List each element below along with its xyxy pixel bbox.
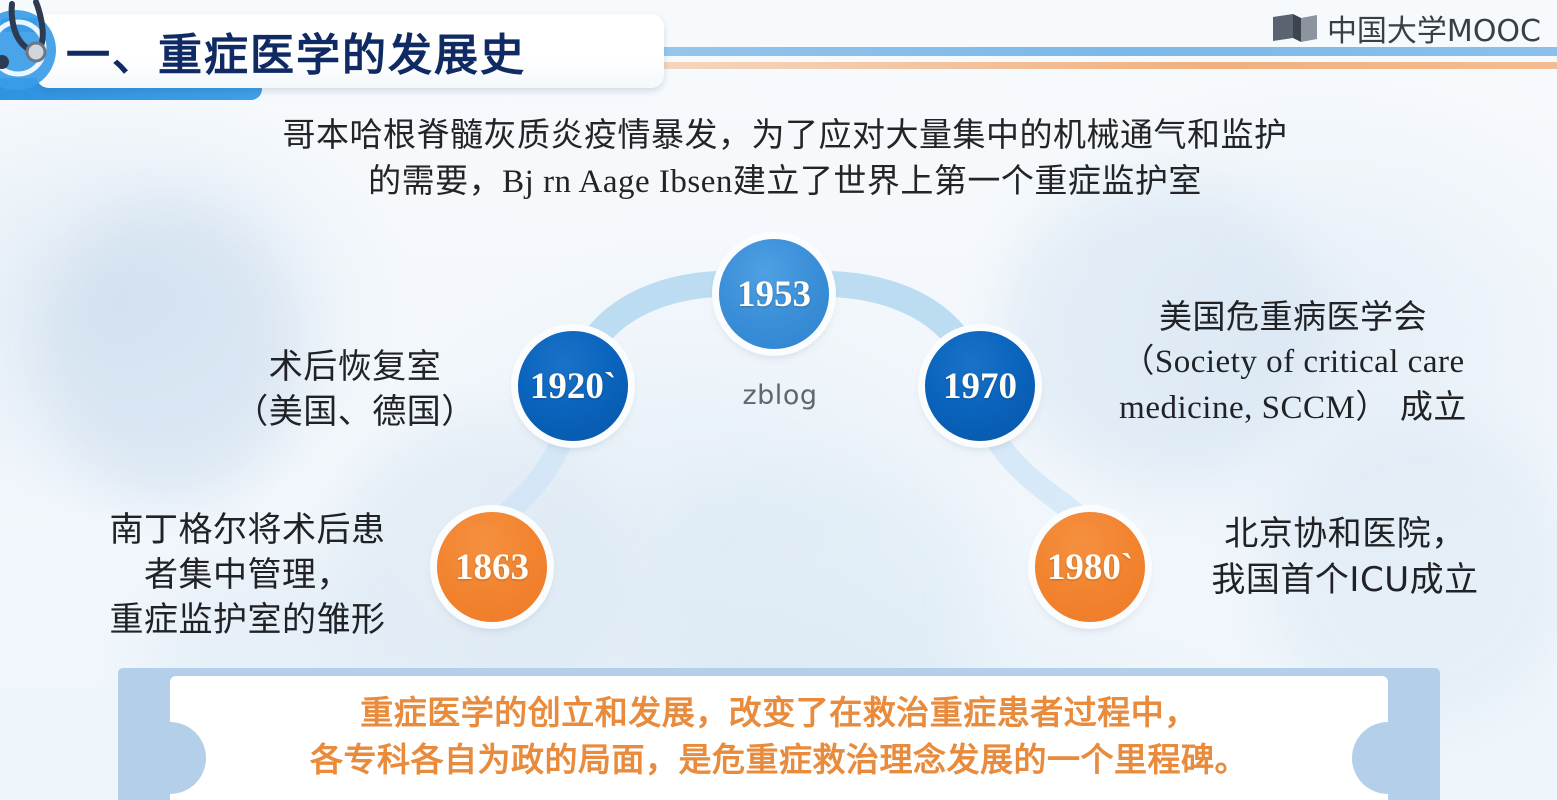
node-1863[interactable]: 1863 <box>437 512 547 622</box>
label-sccm-line-3: medicine, SCCM） 成立 <box>1058 385 1528 431</box>
section-title-label: 重症医学的发展史 <box>158 19 526 83</box>
label-postop-line-2: （美国、德国） <box>205 390 505 435</box>
brand-logo: 中国大学MOOC <box>1271 8 1541 48</box>
label-nightingale-line-1: 南丁格尔将术后患 <box>60 508 435 553</box>
intro-line-1: 哥本哈根脊髓灰质炎疫情暴发，为了应对大量集中的机械通气和监护 <box>150 112 1420 158</box>
label-nightingale-line-2: 者集中管理， <box>60 553 435 598</box>
page-title: 一、重症医学的发展史 <box>66 18 656 84</box>
node-1920[interactable]: 1920` <box>518 331 628 441</box>
label-sccm-line-3-english: medicine, SCCM） <box>1119 390 1389 426</box>
node-1863-year: 1863 <box>455 546 529 589</box>
brand-name: 中国大学MOOC <box>1327 6 1541 50</box>
intro-paragraph: 哥本哈根脊髓灰质炎疫情暴发，为了应对大量集中的机械通气和监护 的需要，Bj rn… <box>150 112 1420 205</box>
label-sccm-line-3-chinese: 成立 <box>1400 387 1467 426</box>
node-1920-year: 1920` <box>530 365 616 408</box>
node-1970-year: 1970 <box>943 365 1017 408</box>
label-pumch: 北京协和医院， 我国首个ICU成立 <box>1160 512 1530 604</box>
stethoscope-icon <box>0 0 104 108</box>
label-pumch-line-1: 北京协和医院， <box>1160 512 1530 558</box>
intro-line-2-prefix: 的需要， <box>368 161 502 200</box>
slide-canvas: 一、重症医学的发展史 中国大学MOOC 哥本哈根脊髓灰质炎疫情暴发，为了应对大量… <box>0 0 1557 800</box>
label-sccm-line-2: （Society of critical care <box>1058 340 1528 385</box>
label-sccm-line-1: 美国危重病医学会 <box>1058 295 1528 340</box>
intro-line-2: 的需要，Bj rn Aage Ibsen建立了世界上第一个重症监护室 <box>150 158 1420 206</box>
label-postop-line-1: 术后恢复室 <box>205 345 505 390</box>
label-nightingale-line-3: 重症监护室的雏形 <box>60 598 435 643</box>
node-1953-year: 1953 <box>737 273 811 316</box>
intro-person-name: Bj rn Aage Ibsen <box>502 164 733 200</box>
node-1970[interactable]: 1970 <box>925 331 1035 441</box>
open-book-icon <box>1271 12 1319 44</box>
summary-line-2: 各专科各自为政的局面，是危重症救治理念发展的一个里程碑。 <box>200 737 1358 784</box>
label-pumch-line-2: 我国首个ICU成立 <box>1160 558 1530 604</box>
intro-line-2-suffix: 建立了世界上第一个重症监护室 <box>733 161 1202 200</box>
node-1953[interactable]: 1953 <box>719 239 829 349</box>
summary-ribbon-text: 重症医学的创立和发展，改变了在救治重症患者过程中， 各专科各自为政的局面，是危重… <box>200 690 1358 784</box>
node-1980-year: 1980` <box>1047 546 1133 589</box>
watermark: zblog <box>700 380 860 411</box>
label-postop-recovery-room: 术后恢复室 （美国、德国） <box>205 345 505 435</box>
label-sccm: 美国危重病医学会 （Society of critical care medic… <box>1058 295 1528 431</box>
label-nightingale: 南丁格尔将术后患 者集中管理， 重症监护室的雏形 <box>60 508 435 644</box>
summary-line-1: 重症医学的创立和发展，改变了在救治重症患者过程中， <box>200 690 1358 737</box>
node-1980[interactable]: 1980` <box>1035 512 1145 622</box>
